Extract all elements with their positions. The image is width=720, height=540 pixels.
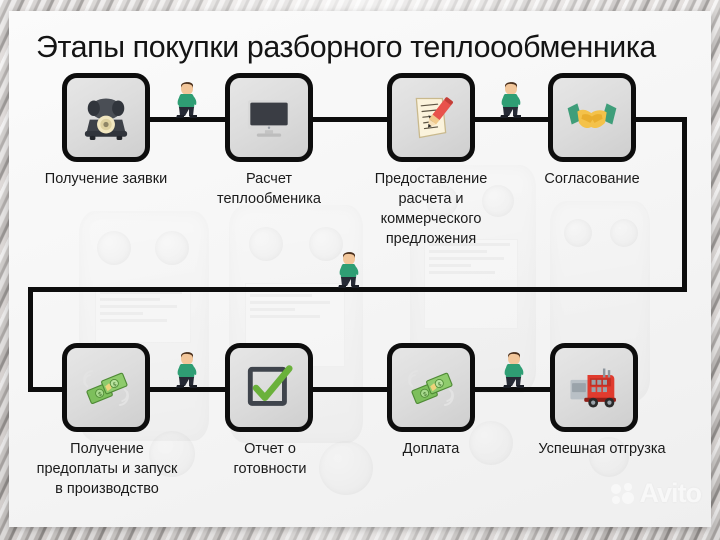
money-with-wings-icon: $ $ <box>80 362 132 414</box>
connector-left-down <box>28 287 33 392</box>
step-box-2[interactable] <box>225 73 313 162</box>
step-label-4: Согласование <box>514 169 670 189</box>
step-box-4[interactable] <box>548 73 636 162</box>
step-label-3: Предоставление расчета и коммерческого п… <box>349 169 513 249</box>
walking-person-icon-4 <box>172 347 202 389</box>
walking-person-icon-1 <box>172 77 202 119</box>
monitor-icon <box>243 92 295 144</box>
step-label-5: Получение предоплаты и запуск в производ… <box>16 439 198 499</box>
step-label-6: Отчет о готовности <box>199 439 341 479</box>
connector-2-3 <box>311 117 387 122</box>
poster-image: Этапы покупки разборного теплоообменника <box>0 0 720 540</box>
step-box-3[interactable] <box>387 73 475 162</box>
step-label-8: Успешная отгрузка <box>507 439 697 459</box>
avito-watermark-text: Avito <box>640 478 702 509</box>
walking-person-icon-2 <box>496 77 526 119</box>
step-box-7[interactable]: $ $ <box>387 343 475 432</box>
money-with-wings-icon: $ $ <box>405 362 457 414</box>
walking-person-icon-5 <box>499 347 529 389</box>
step-box-8[interactable] <box>550 343 638 432</box>
walking-person-icon-3 <box>334 247 364 289</box>
step-label-2: Расчет теплообменика <box>194 169 344 209</box>
connector-4-right <box>636 117 687 122</box>
white-poster-panel: Этапы покупки разборного теплоообменника <box>9 11 711 527</box>
step-box-5[interactable]: $ $ <box>62 343 150 432</box>
page-title: Этапы покупки разборного теплоообменника <box>36 28 691 66</box>
telephone-icon <box>80 92 132 144</box>
avito-dots-icon <box>610 482 636 506</box>
step-box-6[interactable] <box>225 343 313 432</box>
step-label-7: Доплата <box>361 439 501 459</box>
notepad-pencil-icon <box>405 92 457 144</box>
step-box-1[interactable] <box>62 73 150 162</box>
connector-right-down <box>682 117 687 292</box>
checkbox-checked-icon <box>243 362 295 414</box>
handshake-icon <box>566 92 618 144</box>
delivery-truck-icon <box>568 362 620 414</box>
connector-6-7 <box>311 387 389 392</box>
avito-watermark: Avito <box>610 478 702 509</box>
step-label-1: Получение заявки <box>16 169 196 189</box>
